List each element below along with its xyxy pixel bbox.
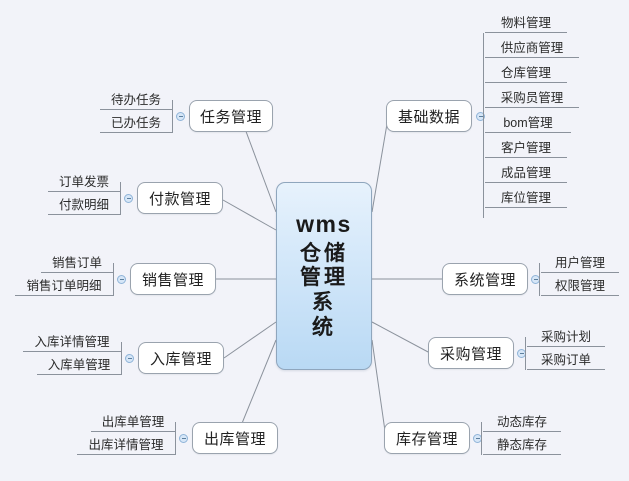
root-label-en: wms bbox=[296, 211, 352, 238]
branch-system-management[interactable]: 系统管理 bbox=[442, 263, 528, 295]
leaf-sales-2[interactable]: 销售订单明细 bbox=[15, 278, 113, 296]
branch-label: 基础数据 bbox=[398, 106, 460, 127]
leaf-outbound-1[interactable]: 出库单管理 bbox=[91, 414, 175, 432]
branch-basic-data[interactable]: 基础数据 bbox=[386, 100, 472, 132]
branch-label: 采购管理 bbox=[440, 343, 502, 364]
branch-label: 付款管理 bbox=[149, 188, 211, 209]
branch-label: 系统管理 bbox=[454, 269, 516, 290]
leaf-system-2[interactable]: 权限管理 bbox=[541, 278, 619, 296]
branch-payment-management[interactable]: 付款管理 bbox=[137, 182, 223, 214]
leaf-basic-2[interactable]: 供应商管理 bbox=[485, 39, 579, 58]
leaf-basic-7[interactable]: 成品管理 bbox=[485, 164, 567, 183]
leaf-system-1[interactable]: 用户管理 bbox=[541, 255, 619, 273]
root-node[interactable]: wms 仓储 管理 系 统 bbox=[276, 182, 372, 370]
branch-sales-management[interactable]: 销售管理 bbox=[130, 263, 216, 295]
leaf-basic-8[interactable]: 库位管理 bbox=[485, 189, 567, 208]
leaf-basic-6[interactable]: 客户管理 bbox=[485, 139, 567, 158]
branch-label: 销售管理 bbox=[142, 269, 204, 290]
leaf-basic-4[interactable]: 采购员管理 bbox=[485, 89, 579, 108]
branch-label: 库存管理 bbox=[396, 428, 458, 449]
leaf-inbound-1[interactable]: 入库详情管理 bbox=[23, 334, 121, 352]
leaf-task-1[interactable]: 待办任务 bbox=[100, 92, 172, 110]
toggle-payment-management[interactable] bbox=[124, 194, 133, 203]
leaf-basic-3[interactable]: 仓库管理 bbox=[485, 64, 567, 83]
leaf-stock-1[interactable]: 动态库存 bbox=[483, 414, 561, 432]
branch-label: 出库管理 bbox=[204, 428, 266, 449]
toggle-outbound-management[interactable] bbox=[179, 434, 188, 443]
leaf-purchase-1[interactable]: 采购计划 bbox=[527, 329, 605, 347]
root-label-cn-4: 统 bbox=[312, 316, 336, 341]
toggle-inbound-management[interactable] bbox=[125, 354, 134, 363]
root-label-cn-1: 仓储 bbox=[300, 242, 348, 267]
toggle-sales-management[interactable] bbox=[117, 275, 126, 284]
leaf-purchase-2[interactable]: 采购订单 bbox=[527, 352, 605, 370]
branch-inbound-management[interactable]: 入库管理 bbox=[138, 342, 224, 374]
leaf-stock-2[interactable]: 静态库存 bbox=[483, 437, 561, 455]
root-label-cn-2: 管理 bbox=[300, 266, 348, 291]
leaf-task-2[interactable]: 已办任务 bbox=[100, 115, 172, 133]
branch-outbound-management[interactable]: 出库管理 bbox=[192, 422, 278, 454]
leaf-basic-5[interactable]: bom管理 bbox=[485, 114, 571, 133]
branch-purchase-management[interactable]: 采购管理 bbox=[428, 337, 514, 369]
branch-stock-management[interactable]: 库存管理 bbox=[384, 422, 470, 454]
branch-task-management[interactable]: 任务管理 bbox=[189, 100, 273, 132]
leaf-sales-1[interactable]: 销售订单 bbox=[41, 255, 113, 273]
branch-label: 任务管理 bbox=[200, 106, 262, 127]
branch-label: 入库管理 bbox=[150, 348, 212, 369]
leaf-payment-1[interactable]: 订单发票 bbox=[48, 174, 120, 192]
leaf-basic-1[interactable]: 物料管理 bbox=[485, 14, 567, 33]
leaf-inbound-2[interactable]: 入库单管理 bbox=[37, 357, 121, 375]
leaf-outbound-2[interactable]: 出库详情管理 bbox=[77, 437, 175, 455]
mindmap-canvas: wms 仓储 管理 系 统 任务管理 待办任务 已办任务 付款管理 订单发票 付… bbox=[0, 0, 629, 481]
root-label-cn-3: 系 bbox=[312, 291, 336, 316]
leaf-payment-2[interactable]: 付款明细 bbox=[48, 197, 120, 215]
toggle-task-management[interactable] bbox=[176, 112, 185, 121]
